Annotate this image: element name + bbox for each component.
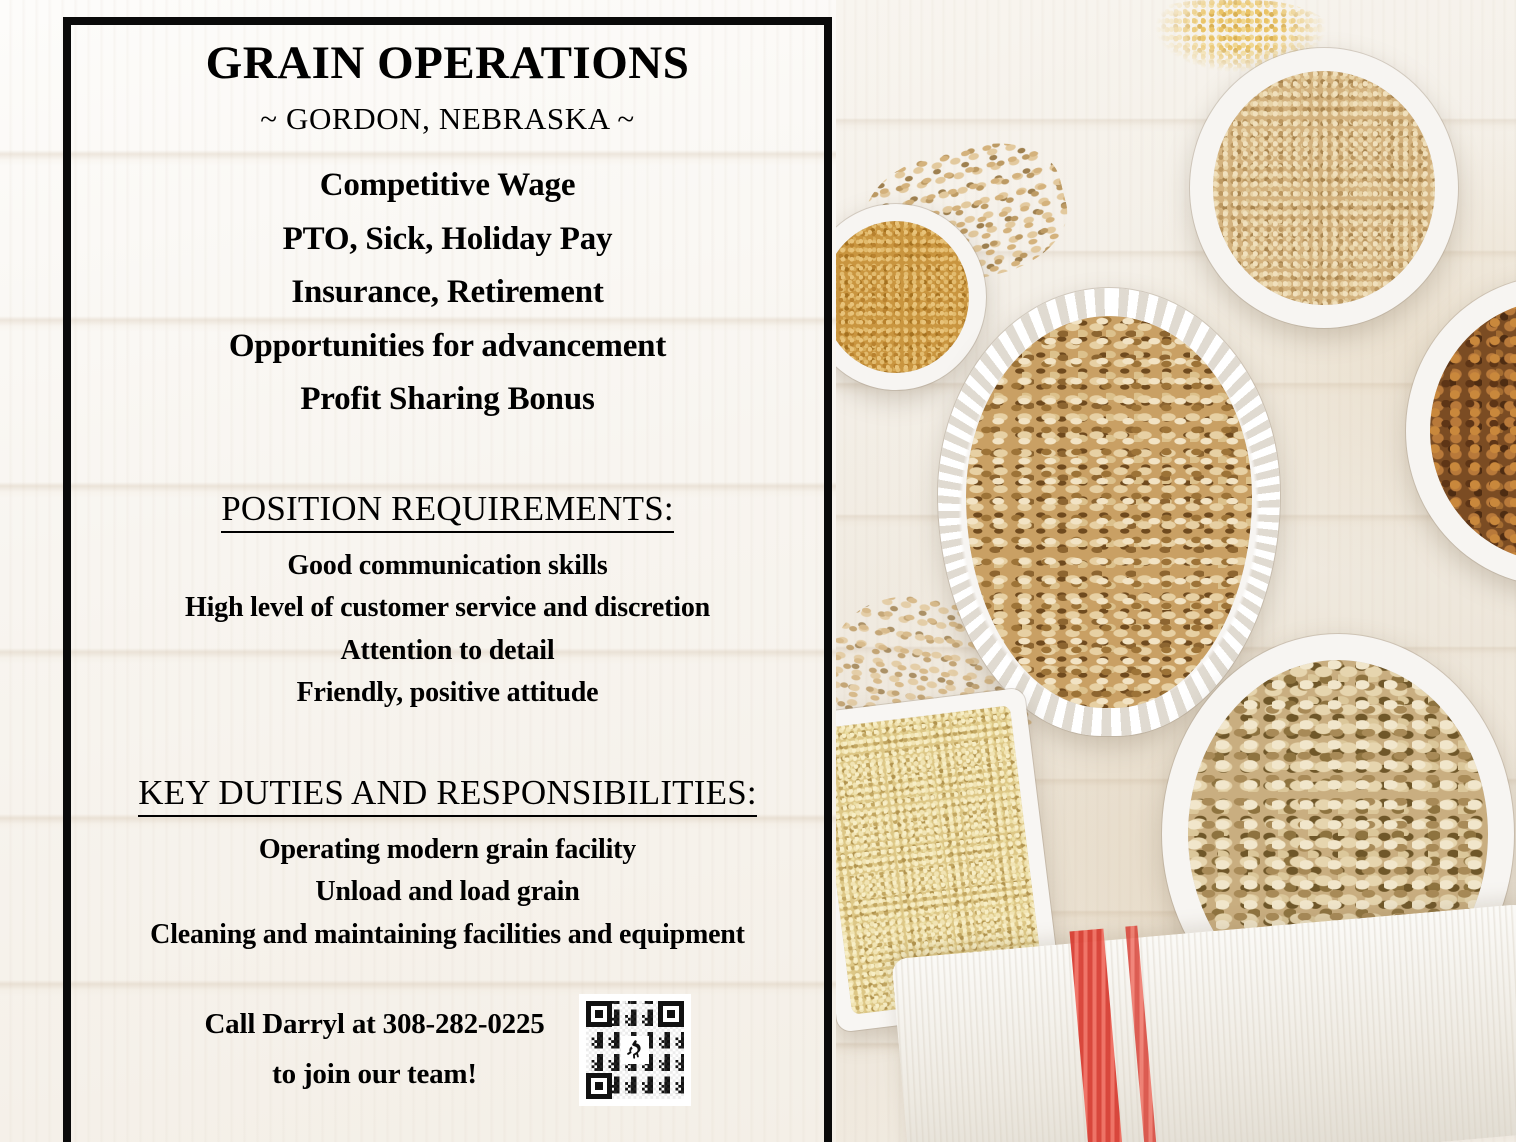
duties-heading: KEY DUTIES AND RESPONSIBILITIES: bbox=[138, 773, 757, 817]
duty-item: Operating modern grain facility bbox=[87, 829, 808, 872]
benefits-list: Competitive Wage PTO, Sick, Holiday Pay … bbox=[87, 159, 808, 426]
flyer-content: GRAIN OPERATIONS ~ GORDON, NEBRASKA ~ Co… bbox=[71, 25, 824, 1142]
location-subtitle: ~ GORDON, NEBRASKA ~ bbox=[87, 101, 808, 137]
benefit-item: PTO, Sick, Holiday Pay bbox=[87, 213, 808, 266]
duty-item: Unload and load grain bbox=[87, 871, 808, 914]
contact-block: Call Darryl at 308-282-0225 to join our … bbox=[87, 994, 808, 1106]
requirement-item: Attention to detail bbox=[87, 630, 808, 673]
benefit-item: Opportunities for advancement bbox=[87, 320, 808, 373]
requirements-heading: POSITION REQUIREMENTS: bbox=[221, 489, 674, 533]
rooster-icon bbox=[621, 1036, 649, 1064]
contact-phone-line[interactable]: Call Darryl at 308-282-0225 bbox=[204, 1000, 544, 1050]
qr-finder-top-left bbox=[586, 1001, 612, 1027]
qr-finder-bottom-left bbox=[586, 1073, 612, 1099]
job-flyer: GRAIN OPERATIONS ~ GORDON, NEBRASKA ~ Co… bbox=[0, 0, 1516, 1142]
duty-item: Cleaning and maintaining facilities and … bbox=[87, 914, 808, 957]
requirement-item: Friendly, positive attitude bbox=[87, 672, 808, 715]
duties-section: KEY DUTIES AND RESPONSIBILITIES: Operati… bbox=[87, 773, 808, 957]
requirement-item: High level of customer service and discr… bbox=[87, 587, 808, 630]
rolled-oats-fluted-dish bbox=[938, 288, 1280, 736]
contact-text: Call Darryl at 308-282-0225 to join our … bbox=[204, 1000, 578, 1100]
benefit-item: Insurance, Retirement bbox=[87, 266, 808, 319]
qr-code[interactable] bbox=[579, 994, 691, 1106]
benefit-item: Profit Sharing Bonus bbox=[87, 373, 808, 426]
qr-finder-top-right bbox=[658, 1001, 684, 1027]
page-title: GRAIN OPERATIONS bbox=[87, 39, 808, 88]
requirements-section: POSITION REQUIREMENTS: Good communicatio… bbox=[87, 489, 808, 715]
contact-cta-line: to join our team! bbox=[204, 1050, 544, 1100]
benefit-item: Competitive Wage bbox=[87, 159, 808, 212]
grain-photo-region bbox=[836, 0, 1516, 1142]
requirement-item: Good communication skills bbox=[87, 545, 808, 588]
cracked-wheat-bowl bbox=[1190, 48, 1458, 328]
